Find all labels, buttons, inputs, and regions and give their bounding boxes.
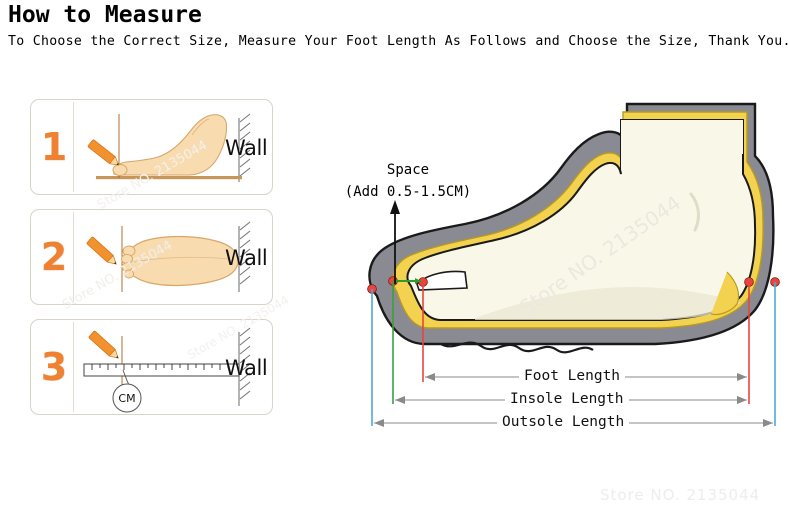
step-panel-3: 3 <box>30 319 273 415</box>
foot-shape <box>114 115 227 175</box>
big-toe <box>113 165 127 176</box>
floor-line <box>96 176 242 179</box>
step-number-2: 2 <box>35 238 73 276</box>
wall-label-2: Wall <box>225 246 267 270</box>
space-label-line1: Space <box>318 159 498 181</box>
pencil-icon <box>88 331 121 362</box>
step-number-3: 3 <box>35 348 73 386</box>
ruler-body <box>84 364 239 376</box>
page-subtitle: To Choose the Correct Size, Measure Your… <box>8 34 790 49</box>
foot-outline <box>126 237 238 286</box>
label-insole-length: Insole Length <box>505 391 629 407</box>
label-foot-length: Foot Length <box>519 368 625 384</box>
shoe-cross-section-diagram <box>355 96 785 441</box>
foot-length-arrowhead-left <box>425 373 435 381</box>
insole-length-arrowhead-left <box>395 396 405 404</box>
outsole-length-arrowhead-right <box>763 419 773 427</box>
pencil-icon <box>86 237 119 268</box>
wall-label-1: Wall <box>225 136 267 160</box>
pencil-icon <box>88 139 122 168</box>
wall-label-3: Wall <box>225 356 267 380</box>
cm-unit-text: CM <box>118 392 135 405</box>
space-annotation: Space (Add 0.5-1.5CM) <box>318 159 498 203</box>
toe <box>124 270 133 278</box>
page-title: How to Measure <box>8 2 202 28</box>
page-root: How to Measure To Choose the Correct Siz… <box>0 0 790 512</box>
outsole-length-arrowhead-left <box>374 419 384 427</box>
foot-length-arrowhead-right <box>737 373 747 381</box>
step-panel-1: 1 <box>30 99 273 195</box>
space-label-line2: (Add 0.5-1.5CM) <box>318 181 498 203</box>
watermark-store-no: Store NO. 2135044 <box>600 486 760 504</box>
step-panel-2: 2 <box>30 209 273 305</box>
step-number-1: 1 <box>35 128 73 166</box>
insole-length-arrowhead-right <box>737 396 747 404</box>
toe <box>122 254 133 263</box>
shoe-svg <box>355 96 785 441</box>
label-outsole-length: Outsole Length <box>497 414 629 430</box>
